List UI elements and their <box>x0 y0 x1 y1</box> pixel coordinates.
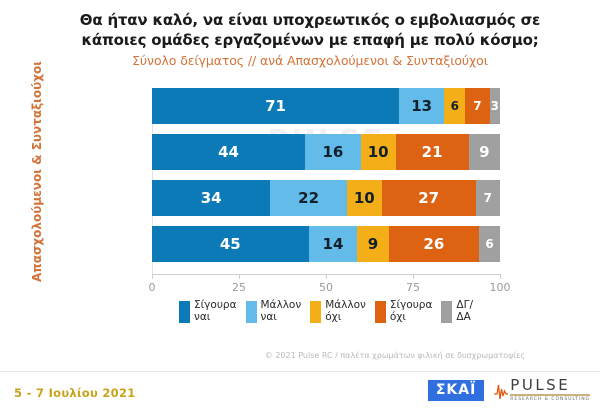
footer-divider <box>0 371 600 372</box>
bar-segment: 3 <box>490 88 500 124</box>
plot-area: PULSE RESEARCH & CONSULTING 7113673Συντα… <box>152 88 500 274</box>
chart-subtitle: Σύνολο δείγματος // ανά Απασχολούμενοι &… <box>60 52 560 70</box>
skai-logo: ΣΚΑΪ <box>428 380 484 401</box>
legend-label: Σίγουρα ναι <box>194 300 237 323</box>
legend-item[interactable]: Μάλλον ναι <box>246 300 302 323</box>
bar-segment: 6 <box>444 88 465 124</box>
title-block: Θα ήταν καλό, να είναι υποχρεωτικός ο εμ… <box>60 10 560 70</box>
legend-swatch <box>441 301 452 323</box>
bar-row: 7113673Συνταξιούχοι <box>152 88 500 124</box>
survey-date: 5 - 7 Ιουλίου 2021 <box>14 386 136 400</box>
bar-segment: 9 <box>469 134 500 170</box>
y-axis-title: Απασχολούμενοι & Συνταξιούχοι <box>30 82 44 282</box>
title-line-2: κάποιες ομάδες εργαζομένων με επαφή με π… <box>60 30 560 50</box>
legend-swatch <box>246 301 257 323</box>
legend-item[interactable]: ΔΓ/ ΔΑ <box>441 300 473 323</box>
copyright-credit: © 2021 Pulse RC / παλέτα χρωμάτων φιλική… <box>200 351 590 360</box>
x-axis-tick-label: 0 <box>149 281 156 294</box>
bar-segment: 14 <box>309 226 358 262</box>
bar-segment: 26 <box>389 226 479 262</box>
logo-group: ΣΚΑΪ PULSE RESEARCH & CONSULTING <box>428 378 590 403</box>
bar-segment: 21 <box>396 134 469 170</box>
bar-segment: 44 <box>152 134 305 170</box>
pulse-logo: PULSE RESEARCH & CONSULTING <box>494 378 590 403</box>
pulse-logo-rule <box>510 394 590 396</box>
x-axis-tick <box>239 274 240 279</box>
pulse-logo-text: PULSE RESEARCH & CONSULTING <box>510 378 590 403</box>
legend-item[interactable]: Σίγουρα όχι <box>375 300 433 323</box>
bar-segment: 7 <box>476 180 500 216</box>
x-axis-tick-label: 75 <box>406 281 420 294</box>
bar-segment: 10 <box>347 180 382 216</box>
x-axis-tick <box>152 274 153 279</box>
chart-legend: Σίγουρα ναιΜάλλον ναιΜάλλον όχιΣίγουρα ό… <box>152 300 500 323</box>
x-axis-tick <box>326 274 327 279</box>
legend-label: ΔΓ/ ΔΑ <box>456 300 473 323</box>
legend-swatch <box>310 301 321 323</box>
legend-label: Μάλλον ναι <box>261 300 302 323</box>
bar-segment: 16 <box>305 134 361 170</box>
bar-segment: 6 <box>479 226 500 262</box>
chart-container: Θα ήταν καλό, να είναι υποχρεωτικός ο εμ… <box>0 0 600 416</box>
bar-segment: 22 <box>270 180 347 216</box>
pulse-logo-name: PULSE <box>510 378 590 393</box>
legend-swatch <box>375 301 386 323</box>
bar-row: 342210277Ιδιωτικόςτομέας <box>152 180 500 216</box>
x-axis-tick-label: 50 <box>319 281 333 294</box>
x-axis-tick-label: 100 <box>490 281 511 294</box>
bar-segment: 34 <box>152 180 270 216</box>
title-line-1: Θα ήταν καλό, να είναι υποχρεωτικός ο εμ… <box>60 10 560 30</box>
pulse-wave-icon <box>494 380 508 402</box>
bar-segment: 10 <box>361 134 396 170</box>
x-axis-tick-label: 25 <box>232 281 246 294</box>
legend-item[interactable]: Σίγουρα ναι <box>179 300 237 323</box>
x-axis-tick <box>500 274 501 279</box>
pulse-logo-tagline: RESEARCH & CONSULTING <box>510 397 590 403</box>
bar-segment: 7 <box>465 88 489 124</box>
x-axis-tick <box>413 274 414 279</box>
bar-segment: 71 <box>152 88 399 124</box>
legend-swatch <box>179 301 190 323</box>
legend-label: Μάλλον όχι <box>325 300 366 323</box>
bar-segment: 27 <box>382 180 476 216</box>
bar-row: 441610219ΕπιχειρηματίεςΕπαγγελματίες <box>152 134 500 170</box>
bar-segment: 9 <box>357 226 388 262</box>
bar-segment: 13 <box>399 88 444 124</box>
page-title: Θα ήταν καλό, να είναι υποχρεωτικός ο εμ… <box>60 10 560 50</box>
bar-row: 45149266Δημόσιοςτομέας <box>152 226 500 262</box>
legend-label: Σίγουρα όχι <box>390 300 433 323</box>
bar-segment: 45 <box>152 226 309 262</box>
legend-item[interactable]: Μάλλον όχι <box>310 300 366 323</box>
x-axis: 0255075100 <box>152 274 500 275</box>
